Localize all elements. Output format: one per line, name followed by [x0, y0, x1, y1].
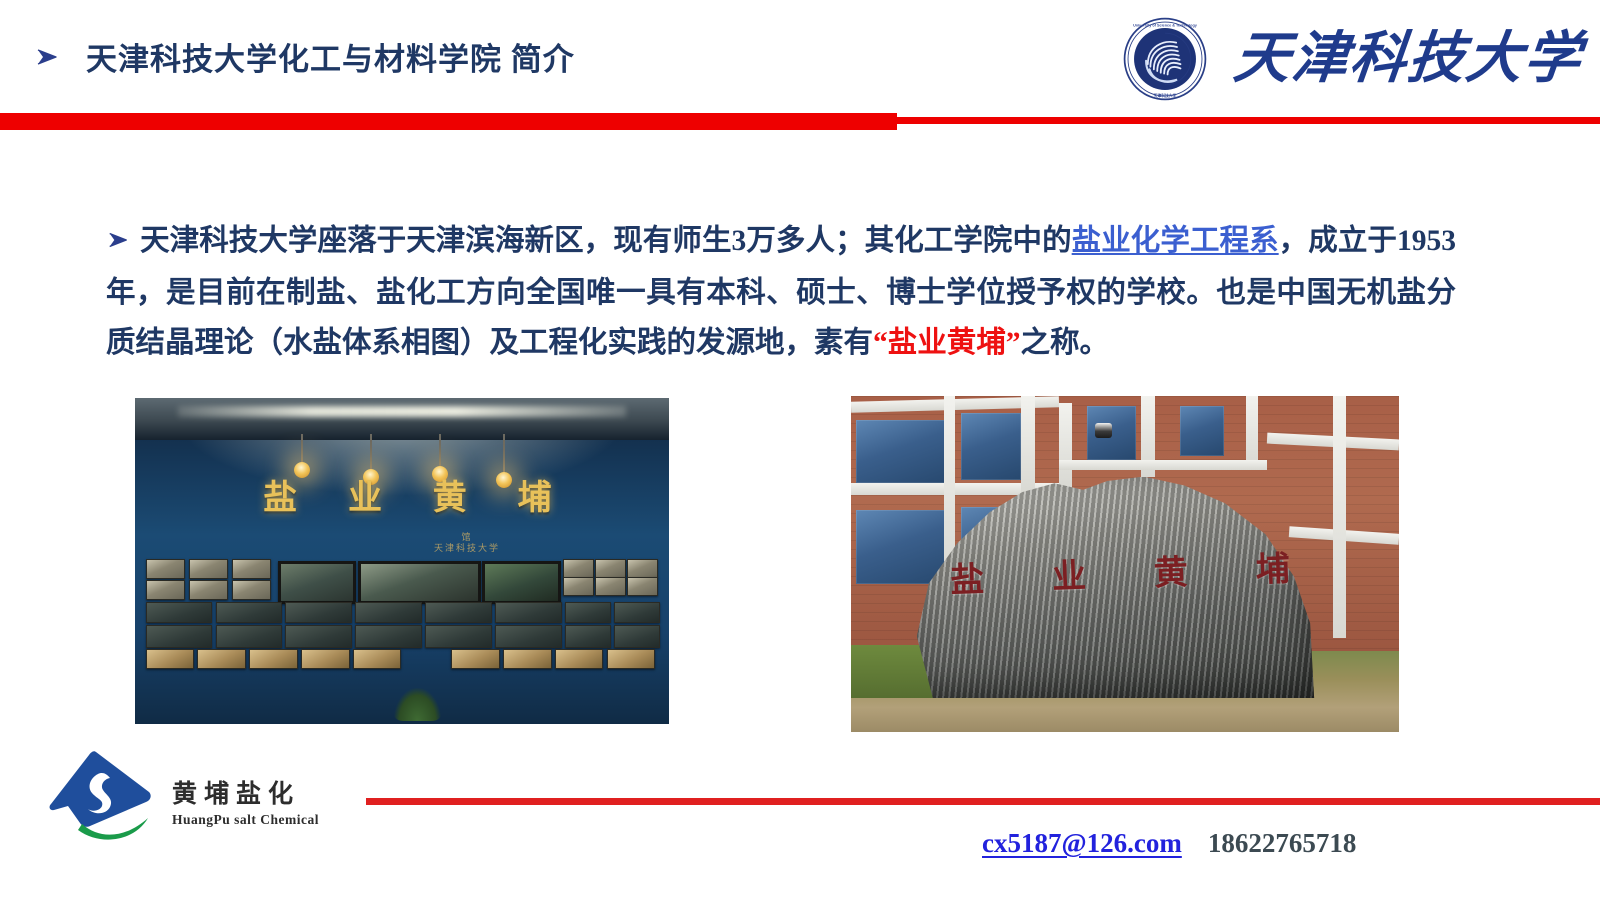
body-paragraph: 天津科技大学座落于天津滨海新区，现有师生3万多人；其化工学院中的盐业化学工程系，… — [106, 216, 1456, 368]
hall-ceiling — [135, 398, 669, 440]
stone-monument-photo: 盐 业 黄 埔 — [851, 396, 1399, 732]
hall-wall-subtitle: 馆天津科技大学 — [434, 532, 500, 554]
svg-text:天津科技大学: 天津科技大学 — [1154, 93, 1177, 98]
monument-scene: 盐 业 黄 埔 — [851, 396, 1399, 732]
inscription-char: 盐 — [949, 552, 985, 602]
hall-scene: 盐 业 黄 埔 馆天津科技大学 — [135, 398, 669, 724]
footer-rule — [366, 798, 1600, 805]
hall-caption-char: 盐 — [263, 470, 297, 519]
body-segment-1: 天津科技大学座落于天津滨海新区，现有师生3万多人；其化工学院中的 — [140, 225, 1072, 257]
header-rule-thick — [0, 113, 897, 130]
hall-caption-char: 埔 — [518, 470, 552, 519]
security-camera — [1095, 423, 1112, 438]
body-segment-3: 之称。 — [1021, 327, 1110, 359]
company-name-en: HuangPu salt Chemical — [172, 812, 319, 828]
body-text-block: 天津科技大学座落于天津滨海新区，现有师生3万多人；其化工学院中的盐业化学工程系，… — [106, 186, 1456, 397]
header-title-row: 天津科技大学化工与材料学院 简介 — [34, 34, 575, 79]
potted-plant — [394, 688, 441, 721]
university-wordmark: 天津科技大学 — [1231, 31, 1585, 87]
university-logo: University of Science & Technology 天津科技大… — [1122, 16, 1582, 102]
svg-text:University of Science & Techno: University of Science & Technology — [1133, 23, 1198, 27]
inscription-char: 黄 — [1153, 545, 1189, 595]
footer-contact: cx5187@126.com 18622765718 — [982, 828, 1356, 859]
inscription-char: 业 — [1051, 548, 1087, 598]
header-rule-thin — [890, 117, 1600, 124]
chevron-right-arrow-icon — [34, 44, 60, 70]
slide-root: 天津科技大学化工与材料学院 简介 — [0, 0, 1600, 900]
body-segment-highlight-department: 盐业化学工程系 — [1072, 225, 1279, 257]
inscription-char: 埔 — [1254, 541, 1290, 591]
photo-frame-grid — [143, 558, 661, 721]
pendant-lamp — [301, 434, 303, 467]
company-logo: 黄埔盐化 HuangPu salt Chemical — [48, 748, 319, 844]
company-name-block: 黄埔盐化 HuangPu salt Chemical — [172, 774, 319, 828]
hall-caption-char: 业 — [348, 470, 382, 519]
company-name-cn: 黄埔盐化 — [172, 774, 319, 810]
slide-header: 天津科技大学化工与材料学院 简介 — [0, 0, 1600, 112]
contact-phone: 18622765718 — [1208, 828, 1357, 859]
pendant-lamp — [439, 434, 441, 470]
hall-wall-caption: 盐 业 黄 埔 — [263, 470, 551, 519]
contact-email-link[interactable]: cx5187@126.com — [982, 828, 1182, 859]
university-emblem-icon: University of Science & Technology 天津科技大… — [1122, 16, 1208, 102]
hall-caption-char: 黄 — [433, 470, 467, 519]
chevron-right-arrow-icon — [106, 218, 130, 268]
pendant-lamp — [370, 434, 372, 473]
body-segment-highlight-nickname: “盐业黄埔” — [873, 327, 1021, 359]
huangpu-salt-diamond-logo-icon — [48, 748, 156, 844]
exhibition-hall-photo: 盐 业 黄 埔 馆天津科技大学 — [135, 398, 669, 724]
page-title: 天津科技大学化工与材料学院 简介 — [86, 34, 575, 79]
